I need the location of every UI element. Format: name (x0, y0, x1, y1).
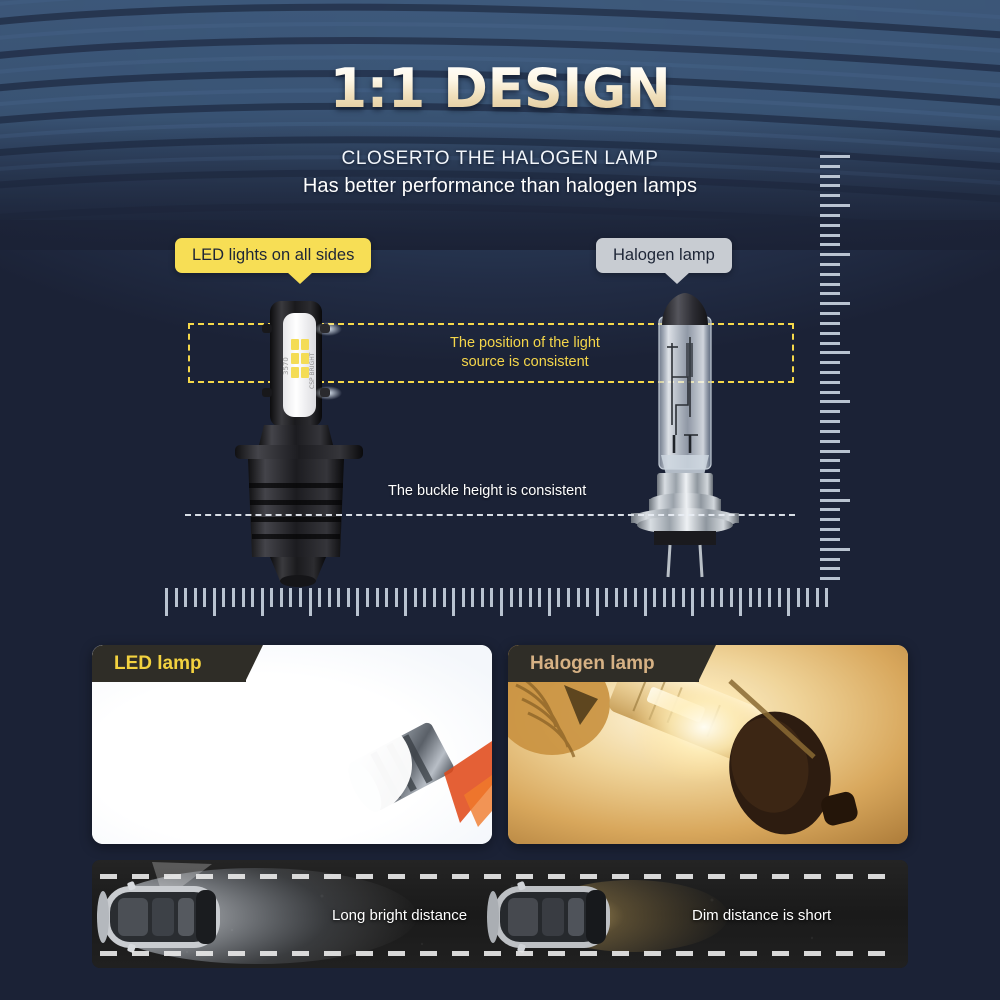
horizontal-ruler (165, 588, 835, 618)
ruler-tick-horizontal (557, 588, 560, 607)
ruler-tick-vertical (820, 528, 840, 531)
ruler-tick-horizontal (739, 588, 742, 616)
ruler-tick-horizontal (452, 588, 455, 616)
ruler-tick-vertical (820, 332, 840, 335)
ruler-tick-horizontal (203, 588, 206, 607)
ruler-tick-horizontal (184, 588, 187, 607)
ruler-tick-horizontal (175, 588, 178, 607)
ruler-tick-horizontal (299, 588, 302, 607)
ruler-tick-vertical (820, 410, 840, 413)
ruler-tick-horizontal (653, 588, 656, 607)
ruler-tick-vertical (820, 548, 850, 551)
ruler-tick-vertical (820, 234, 840, 237)
svg-text:CSP BRIGHT: CSP BRIGHT (309, 352, 316, 389)
ruler-tick-vertical (820, 420, 840, 423)
ruler-tick-horizontal (519, 588, 522, 607)
ruler-tick-vertical (820, 361, 840, 364)
ruler-tick-horizontal (548, 588, 551, 616)
ruler-tick-vertical (820, 243, 840, 246)
ruler-tick-vertical (820, 499, 850, 502)
road-comparison-strip: Long bright distance Dim distance is sho… (92, 860, 908, 968)
ruler-tick-horizontal (615, 588, 618, 607)
ruler-tick-horizontal (529, 588, 532, 607)
ruler-tick-vertical (820, 155, 850, 158)
ruler-tick-horizontal (194, 588, 197, 607)
ruler-tick-horizontal (222, 588, 225, 607)
ruler-tick-horizontal (672, 588, 675, 607)
ruler-tick-horizontal (289, 588, 292, 607)
ruler-tick-vertical (820, 469, 840, 472)
ruler-tick-horizontal (825, 588, 828, 607)
ruler-tick-horizontal (328, 588, 331, 607)
ruler-tick-vertical (820, 224, 840, 227)
ruler-tick-horizontal (749, 588, 752, 607)
ruler-tick-vertical (820, 273, 840, 276)
road-dash-top (100, 874, 900, 879)
ruler-tick-vertical (820, 558, 840, 561)
buckle-height-line (185, 514, 795, 516)
ruler-tick-horizontal (577, 588, 580, 607)
ruler-tick-vertical (820, 283, 840, 286)
panel-tab-halogen: Halogen lamp (508, 645, 699, 682)
ruler-tick-horizontal (242, 588, 245, 607)
ruler-tick-vertical (820, 450, 850, 453)
ruler-tick-horizontal (758, 588, 761, 607)
ruler-tick-horizontal (347, 588, 350, 607)
ruler-tick-horizontal (462, 588, 465, 607)
ruler-tick-horizontal (251, 588, 254, 607)
ruler-tick-vertical (820, 508, 840, 511)
ruler-tick-horizontal (644, 588, 647, 616)
ruler-tick-horizontal (165, 588, 168, 616)
ruler-tick-horizontal (510, 588, 513, 607)
ruler-tick-horizontal (682, 588, 685, 607)
ruler-tick-horizontal (490, 588, 493, 607)
ruler-tick-horizontal (663, 588, 666, 607)
ruler-tick-horizontal (213, 588, 216, 616)
ruler-tick-vertical (820, 489, 840, 492)
ruler-tick-horizontal (586, 588, 589, 607)
ruler-tick-horizontal (481, 588, 484, 607)
ruler-tick-horizontal (261, 588, 264, 616)
buckle-height-annotation: The buckle height is consistent (388, 483, 586, 499)
ruler-tick-horizontal (768, 588, 771, 607)
vertical-ruler (820, 155, 860, 587)
road-label-halogen: Dim distance is short (692, 907, 831, 924)
callout-led-lights: LED lights on all sides (175, 238, 371, 273)
ruler-tick-vertical (820, 391, 840, 394)
ruler-tick-vertical (820, 292, 840, 295)
ruler-tick-vertical (820, 371, 840, 374)
page-title: 1:1 DESIGN (0, 62, 1000, 116)
ruler-tick-vertical (820, 302, 850, 305)
ruler-tick-vertical (820, 342, 840, 345)
halogen-bulb-image (628, 285, 758, 581)
ruler-tick-horizontal (232, 588, 235, 607)
ruler-tick-horizontal (720, 588, 723, 607)
svg-text:3570: 3570 (282, 357, 290, 375)
ruler-tick-vertical (820, 263, 840, 266)
ruler-tick-horizontal (270, 588, 273, 607)
ruler-tick-horizontal (433, 588, 436, 607)
ruler-tick-vertical (820, 351, 850, 354)
ruler-tick-horizontal (423, 588, 426, 607)
ruler-tick-vertical (820, 253, 850, 256)
ruler-tick-horizontal (701, 588, 704, 607)
ruler-tick-horizontal (280, 588, 283, 607)
ruler-tick-vertical (820, 538, 840, 541)
panel-led-lamp: LED lamp (92, 645, 492, 844)
ruler-tick-vertical (820, 440, 840, 443)
ruler-tick-vertical (820, 322, 840, 325)
ruler-tick-vertical (820, 430, 840, 433)
ruler-tick-horizontal (395, 588, 398, 607)
ruler-tick-horizontal (797, 588, 800, 607)
ruler-tick-horizontal (318, 588, 321, 607)
ruler-tick-vertical (820, 165, 840, 168)
light-source-line-1: The position of the light (450, 335, 600, 351)
ruler-tick-vertical (820, 518, 840, 521)
ruler-tick-horizontal (624, 588, 627, 607)
ruler-tick-horizontal (816, 588, 819, 607)
ruler-tick-horizontal (309, 588, 312, 616)
ruler-tick-horizontal (787, 588, 790, 616)
ruler-tick-horizontal (806, 588, 809, 607)
road-dash-bottom (100, 951, 900, 956)
ruler-tick-horizontal (567, 588, 570, 607)
light-source-annotation: The position of the light source is cons… (395, 334, 655, 373)
callout-halogen-lamp: Halogen lamp (596, 238, 732, 273)
ruler-tick-vertical (820, 214, 840, 217)
ruler-tick-horizontal (366, 588, 369, 607)
ruler-tick-horizontal (634, 588, 637, 607)
ruler-tick-horizontal (337, 588, 340, 607)
ruler-tick-vertical (820, 175, 840, 178)
road-label-led: Long bright distance (332, 907, 467, 924)
ruler-tick-vertical (820, 567, 840, 570)
ruler-tick-horizontal (596, 588, 599, 616)
ruler-tick-horizontal (538, 588, 541, 607)
ruler-tick-horizontal (443, 588, 446, 607)
ruler-tick-vertical (820, 312, 840, 315)
ruler-tick-vertical (820, 194, 840, 197)
ruler-tick-vertical (820, 184, 840, 187)
ruler-tick-horizontal (500, 588, 503, 616)
light-source-line-2: source is consistent (461, 354, 588, 370)
panel-tab-led: LED lamp (92, 645, 246, 682)
ruler-tick-horizontal (730, 588, 733, 607)
ruler-tick-horizontal (376, 588, 379, 607)
ruler-tick-vertical (820, 577, 840, 580)
promo-banner: 1:1 DESIGN CLOSERTO THE HALOGEN LAMP Has… (0, 0, 1000, 1000)
ruler-tick-horizontal (691, 588, 694, 616)
ruler-tick-horizontal (404, 588, 407, 616)
ruler-tick-vertical (820, 381, 840, 384)
ruler-tick-horizontal (385, 588, 388, 607)
ruler-tick-vertical (820, 204, 850, 207)
ruler-tick-horizontal (711, 588, 714, 607)
ruler-tick-horizontal (471, 588, 474, 607)
ruler-tick-vertical (820, 459, 840, 462)
ruler-tick-horizontal (605, 588, 608, 607)
ruler-tick-horizontal (778, 588, 781, 607)
ruler-tick-horizontal (414, 588, 417, 607)
ruler-tick-vertical (820, 479, 840, 482)
ruler-tick-horizontal (356, 588, 359, 616)
led-bulb-image: 3570 CSP BRIGHT (232, 297, 367, 589)
ruler-tick-vertical (820, 400, 850, 403)
panel-halogen-lamp: Halogen lamp (508, 645, 908, 844)
